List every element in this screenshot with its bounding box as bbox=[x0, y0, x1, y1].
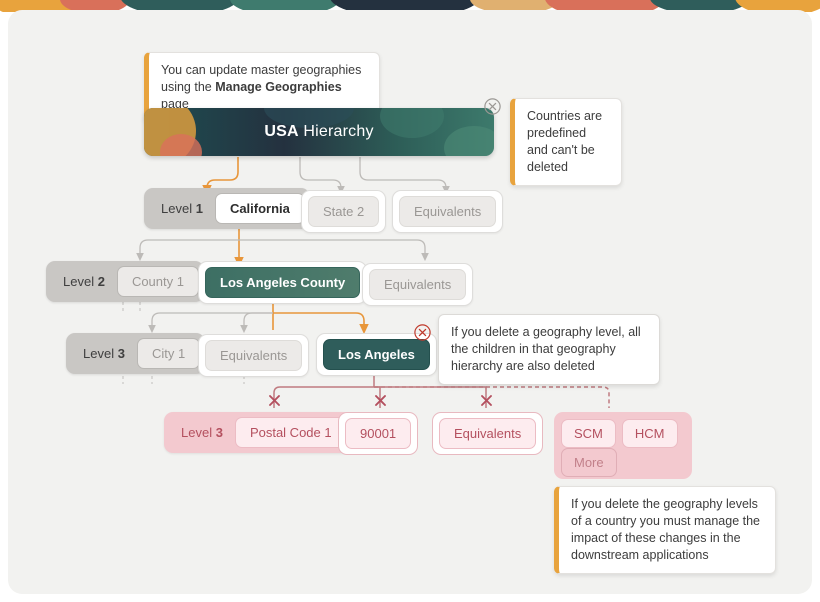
chip-equivalents-level-1[interactable]: Equivalents bbox=[399, 196, 496, 227]
callout-delete-level: If you delete a geography level, all the… bbox=[438, 314, 660, 385]
level-1-sibling-group: State 2 bbox=[301, 190, 386, 233]
diagram-canvas: You can update master geographies using … bbox=[0, 0, 820, 602]
delete-circle-icon-city[interactable] bbox=[414, 324, 431, 341]
level-2-equivalents-group: Equivalents bbox=[362, 263, 473, 306]
level-2-label: Level 2 bbox=[51, 274, 117, 289]
level-1-equivalents-group: Equivalents bbox=[392, 190, 503, 233]
callout-text-bold: Manage Geographies bbox=[215, 80, 341, 94]
level-1-group: Level 1 California bbox=[144, 188, 310, 229]
chip-scm[interactable]: SCM bbox=[561, 419, 616, 448]
chip-los-angeles-county[interactable]: Los Angeles County bbox=[205, 267, 360, 298]
level-1-label-prefix: Level bbox=[161, 201, 196, 216]
chip-city-1[interactable]: City 1 bbox=[137, 338, 200, 369]
postal-level-group: Level 3 Postal Code 1 bbox=[164, 412, 352, 453]
level-2-selected-group: Los Angeles County bbox=[198, 261, 367, 304]
banner-title: USA Hierarchy bbox=[144, 108, 494, 156]
level-3-label-num: 3 bbox=[118, 346, 125, 361]
postal-level-label-prefix: Level bbox=[181, 425, 216, 440]
apps-tags-row: SCM HCM bbox=[561, 419, 685, 448]
level-1-label-num: 1 bbox=[196, 201, 203, 216]
postal-selected-group: 90001 bbox=[338, 412, 418, 455]
level-3-label: Level 3 bbox=[71, 346, 137, 361]
banner-title-bold: USA bbox=[264, 123, 298, 140]
level-3-group: Level 3 City 1 bbox=[66, 333, 205, 374]
level-3-label-prefix: Level bbox=[83, 346, 118, 361]
chip-postal-code-1[interactable]: Postal Code 1 bbox=[235, 417, 347, 448]
level-2-label-prefix: Level bbox=[63, 274, 98, 289]
chip-90001[interactable]: 90001 bbox=[345, 418, 411, 449]
x-mark-icon-2 bbox=[374, 394, 387, 407]
chip-equivalents-level-2[interactable]: Equivalents bbox=[369, 269, 466, 300]
banner-title-rest: Hierarchy bbox=[299, 123, 374, 140]
chip-california[interactable]: California bbox=[215, 193, 305, 224]
chip-los-angeles[interactable]: Los Angeles bbox=[323, 339, 430, 370]
chip-county-1[interactable]: County 1 bbox=[117, 266, 199, 297]
postal-equivalents-group: Equivalents bbox=[432, 412, 543, 455]
chip-more[interactable]: More bbox=[561, 448, 617, 477]
hierarchy-banner: USA Hierarchy bbox=[144, 108, 494, 156]
callout-countries-predefined: Countries are predefined and can't be de… bbox=[510, 98, 622, 186]
level-2-label-num: 2 bbox=[98, 274, 105, 289]
chip-hcm[interactable]: HCM bbox=[622, 419, 678, 448]
x-mark-icon-3 bbox=[480, 394, 493, 407]
callout-downstream-impact: If you delete the geography levels of a … bbox=[554, 486, 776, 574]
chip-state-2[interactable]: State 2 bbox=[308, 196, 379, 227]
apps-tags-panel: SCM HCM More bbox=[554, 412, 692, 479]
postal-level-label: Level 3 bbox=[169, 425, 235, 440]
postal-level-label-num: 3 bbox=[216, 425, 223, 440]
chip-equivalents-level-3[interactable]: Equivalents bbox=[205, 340, 302, 371]
chip-equivalents-postal[interactable]: Equivalents bbox=[439, 418, 536, 449]
level-1-label: Level 1 bbox=[149, 201, 215, 216]
apps-more-row: More bbox=[561, 454, 685, 472]
level-2-group: Level 2 County 1 bbox=[46, 261, 204, 302]
level-3-equivalents-group: Equivalents bbox=[198, 334, 309, 377]
x-mark-icon-1 bbox=[268, 394, 281, 407]
